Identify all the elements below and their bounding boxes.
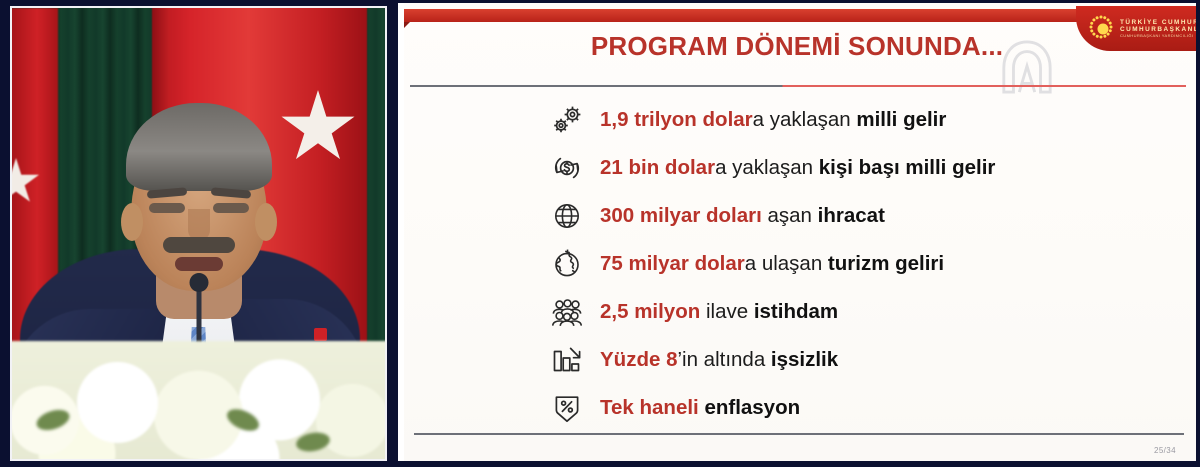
bullet-text: 300 milyar doları aşan ihracat (590, 204, 885, 228)
bullet-highlight: 1,9 trilyon dolar (600, 108, 753, 131)
bullet-emphasis: işsizlik (771, 348, 838, 371)
bullet-emphasis: ihracat (818, 204, 885, 227)
people-group-icon (544, 295, 590, 329)
bullet-plain: ’in altında (677, 348, 770, 371)
slide-title: PROGRAM DÖNEMİ SONUNDA... (398, 31, 1196, 62)
bullet-text: Tek haneli enflasyon (590, 396, 800, 420)
bullet-plain: ilave (700, 300, 754, 323)
bullet-text: 1,9 trilyon dolara yaklaşan milli gelir (590, 108, 946, 132)
bullet-plain: aşan (762, 204, 818, 227)
bullet-highlight: 2,5 milyon (600, 300, 700, 323)
eye-right (213, 203, 249, 213)
globe-travel-icon (544, 247, 590, 281)
gears-icon (544, 103, 590, 137)
presentation-slide-panel[interactable]: TÜRKİYE CUMHURİYETİ CUMHURBAŞKANLIĞI CUM… (398, 0, 1200, 467)
bullet-item: 1,9 trilyon dolara yaklaşan milli gelir (544, 96, 1180, 144)
bullet-list: 1,9 trilyon dolara yaklaşan milli gelir (544, 96, 1180, 432)
title-divider-rule (410, 85, 1186, 87)
bullet-plain: a yaklaşan (715, 156, 819, 179)
bullet-highlight: Yüzde 8 (600, 348, 677, 371)
bullet-emphasis: turizm geliri (828, 252, 944, 275)
leaf (295, 430, 332, 454)
lapel-flag-pin (314, 328, 327, 341)
globe-grid-icon (544, 199, 590, 233)
declining-bar-chart-icon (544, 343, 590, 377)
bullet-highlight: Tek haneli (600, 396, 704, 419)
percent-down-badge-icon (544, 391, 590, 425)
bullet-item: 300 milyar doları aşan ihracat (544, 192, 1180, 240)
bullet-text: Yüzde 8’in altında işsizlik (590, 348, 838, 372)
slide-left-edge (398, 3, 404, 461)
slide: TÜRKİYE CUMHURİYETİ CUMHURBAŞKANLIĞI CUM… (398, 3, 1196, 461)
bullet-emphasis: milli gelir (856, 108, 946, 131)
bullet-highlight: 21 bin dolar (600, 156, 715, 179)
bullet-item: 75 milyar dolara ulaşan turizm geliri (544, 240, 1180, 288)
speaker-figure (12, 8, 385, 459)
ear-right (255, 203, 277, 241)
slide-page-number: 25/34 (1154, 446, 1176, 455)
dollar-refresh-icon (544, 151, 590, 185)
bullet-item: Tek haneli enflasyon (544, 384, 1180, 432)
bullet-text: 75 milyar dolara ulaşan turizm geliri (590, 252, 944, 276)
logo-line-1: TÜRKİYE CUMHURİYETİ (1120, 19, 1196, 26)
hair (126, 103, 272, 191)
bullet-plain: a ulaşan (745, 252, 828, 275)
leaf (224, 405, 262, 435)
video-frame (10, 6, 387, 461)
bullet-highlight: 75 milyar dolar (600, 252, 745, 275)
bullet-emphasis: kişi başı milli gelir (819, 156, 996, 179)
bullet-text: 21 bin dolara yaklaşan kişi başı milli g… (590, 156, 995, 180)
bullet-highlight: 300 milyar doları (600, 204, 762, 227)
live-video-panel[interactable] (0, 0, 395, 467)
leaf (34, 406, 72, 434)
bullet-emphasis: istihdam (754, 300, 838, 323)
mouth (175, 257, 223, 271)
bullet-emphasis: enflasyon (704, 396, 800, 419)
eye-left (149, 203, 185, 213)
ear-left (121, 203, 143, 241)
video-content (12, 8, 385, 459)
bullet-item: 21 bin dolara yaklaşan kişi başı milli g… (544, 144, 1180, 192)
flower-arrangement (12, 341, 385, 459)
bullet-text: 2,5 milyon ilave istihdam (590, 300, 838, 324)
bullet-item: 2,5 milyon ilave istihdam (544, 288, 1180, 336)
screen: TÜRKİYE CUMHURİYETİ CUMHURBAŞKANLIĞI CUM… (0, 0, 1200, 467)
bottom-divider-rule (414, 433, 1184, 435)
bullet-plain: a yaklaşan (753, 108, 857, 131)
mustache (163, 237, 235, 253)
bullet-item: Yüzde 8’in altında işsizlik (544, 336, 1180, 384)
